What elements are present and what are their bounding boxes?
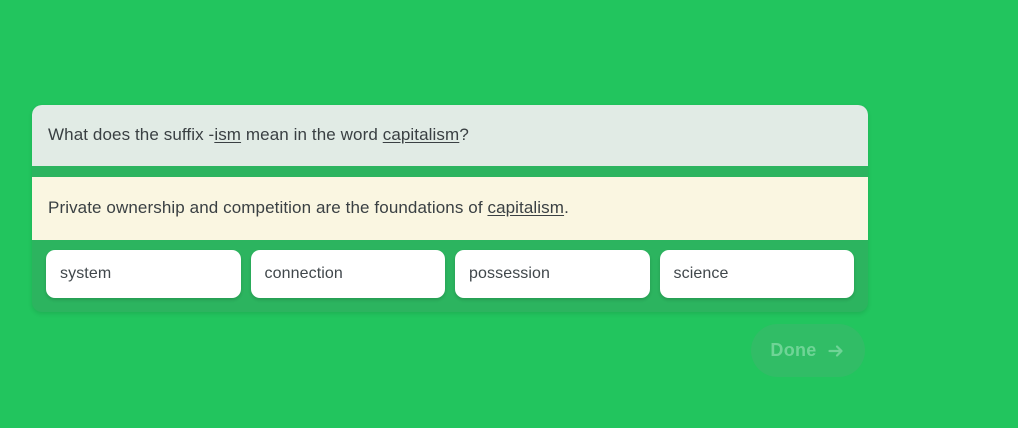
option-label: possession (469, 265, 550, 283)
done-button-label: Done (770, 340, 816, 361)
suffix-term: ism (214, 125, 241, 144)
sentence-after: . (564, 198, 569, 217)
option-button-4[interactable]: science (660, 250, 855, 298)
exercise-card: What does the suffix -ism mean in the wo… (32, 105, 868, 312)
done-button[interactable]: Done (751, 324, 865, 377)
question-middle: mean in the word (241, 125, 383, 144)
option-button-1[interactable]: system (46, 250, 241, 298)
question-text: What does the suffix -ism mean in the wo… (48, 123, 469, 147)
question-end: ? (459, 125, 469, 144)
exercise-screen: What does the suffix -ism mean in the wo… (0, 0, 1018, 428)
sentence-highlight-word: capitalism (487, 198, 564, 217)
option-button-3[interactable]: possession (455, 250, 650, 298)
question-target-word: capitalism (383, 125, 460, 144)
sentence-text: Private ownership and competition are th… (48, 196, 569, 220)
option-label: system (60, 265, 111, 283)
question-panel: What does the suffix -ism mean in the wo… (32, 105, 868, 166)
option-label: science (674, 265, 729, 283)
option-label: connection (265, 265, 343, 283)
options-row: system connection possession science (32, 240, 868, 300)
panel-divider (32, 166, 868, 177)
sentence-before: Private ownership and competition are th… (48, 198, 487, 217)
arrow-right-icon (826, 341, 846, 361)
sentence-panel: Private ownership and competition are th… (32, 177, 868, 240)
option-button-2[interactable]: connection (251, 250, 446, 298)
question-prefix: What does the suffix - (48, 125, 214, 144)
